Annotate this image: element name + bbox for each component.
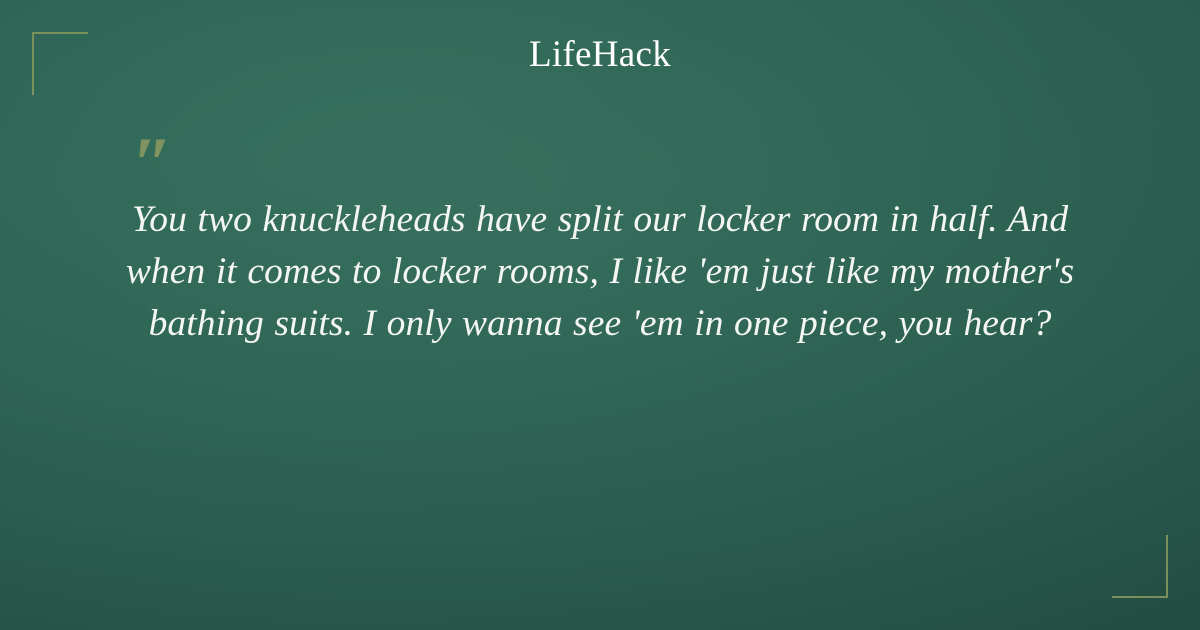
quote-text: You two knuckleheads have split our lock… xyxy=(118,194,1082,350)
quote-block: ″ You two knuckleheads have split our lo… xyxy=(118,142,1082,350)
brand-header: LifeHack xyxy=(0,36,1200,73)
lifehack-logo: LifeHack xyxy=(529,36,671,73)
corner-bracket-bottom-right-icon xyxy=(1112,535,1168,598)
quote-card: LifeHack ″ You two knuckleheads have spl… xyxy=(0,0,1200,630)
quotation-mark-icon: ″ xyxy=(132,142,1082,194)
